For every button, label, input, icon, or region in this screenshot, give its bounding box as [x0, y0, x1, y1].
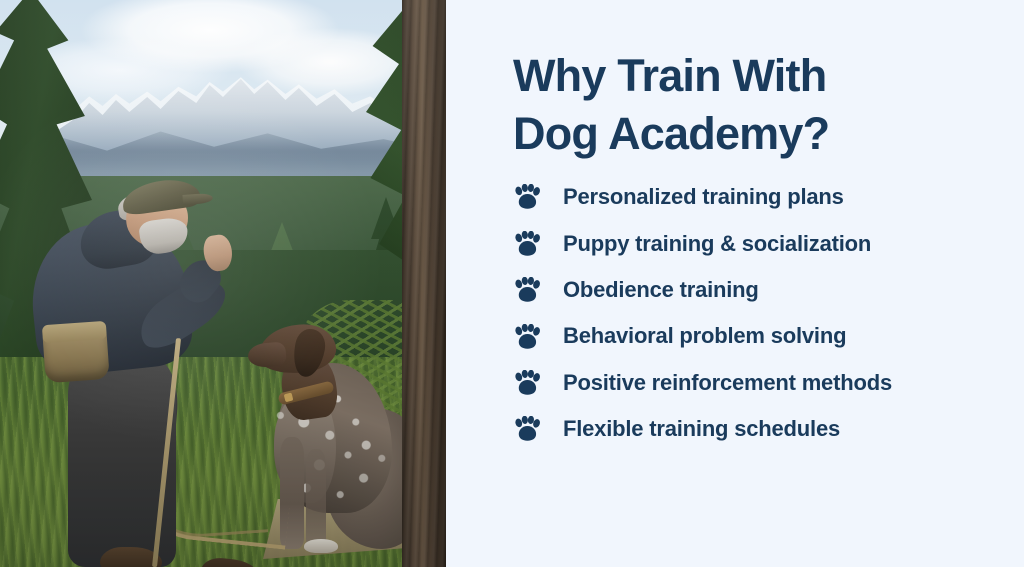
trainer-boot [201, 557, 259, 567]
paw-print-icon [513, 277, 541, 303]
list-item: Personalized training plans [513, 184, 994, 210]
paw-print-icon [513, 416, 541, 442]
page-title: Why Train With Dog Academy? [513, 47, 994, 162]
list-item-label: Personalized training plans [563, 184, 844, 210]
list-item-label: Positive reinforcement methods [563, 370, 892, 396]
right-tree-trunk [402, 0, 446, 567]
benefits-list: Personalized training plans Puppy traini… [513, 184, 994, 442]
dog-muzzle [247, 341, 287, 368]
dog-foreleg-back [306, 449, 326, 549]
list-item-label: Flexible training schedules [563, 416, 840, 442]
list-item: Behavioral problem solving [513, 323, 994, 349]
training-photo [0, 0, 446, 567]
content-panel: Why Train With Dog Academy? Personalized… [446, 0, 1024, 567]
list-item: Positive reinforcement methods [513, 370, 994, 396]
content-inner: Why Train With Dog Academy? Personalized… [446, 0, 1024, 443]
paw-print-icon [513, 231, 541, 257]
dog-trainer [22, 97, 252, 567]
list-item-label: Puppy training & socialization [563, 231, 871, 257]
list-item: Puppy training & socialization [513, 231, 994, 257]
list-item: Obedience training [513, 277, 994, 303]
promo-slide: Why Train With Dog Academy? Personalized… [0, 0, 1024, 567]
paw-print-icon [513, 184, 541, 210]
paw-print-icon [513, 324, 541, 350]
dog-paw [304, 539, 338, 553]
trainer-treat-pouch [42, 327, 109, 383]
photo-stage [0, 0, 446, 567]
paw-print-icon [513, 370, 541, 396]
list-item: Flexible training schedules [513, 416, 994, 442]
list-item-label: Obedience training [563, 277, 759, 303]
list-item-label: Behavioral problem solving [563, 323, 846, 349]
trainer-flat-cap [120, 176, 201, 217]
